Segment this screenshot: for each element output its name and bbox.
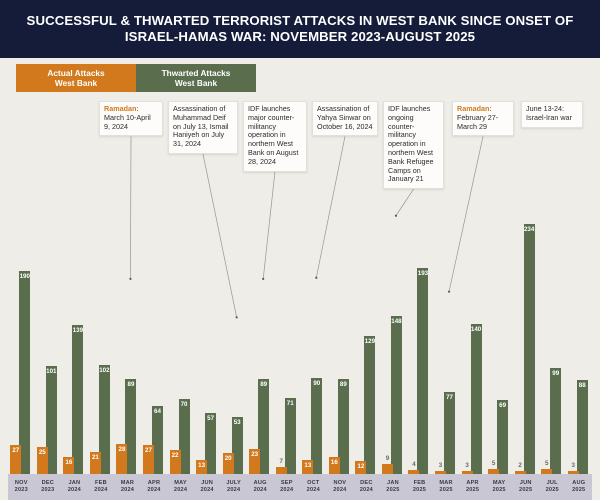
bar-actual: 7 bbox=[276, 467, 287, 474]
x-axis-tick-label: AUG2024 bbox=[247, 474, 274, 500]
bar-value-actual: 3 bbox=[439, 462, 442, 469]
bar-actual: 16 bbox=[329, 457, 340, 474]
bar-group: 8928 bbox=[114, 192, 141, 474]
annotation-highlight: Ramadan: bbox=[104, 104, 139, 113]
bar-actual: 22 bbox=[170, 450, 181, 474]
annotation-ramadan-2024: Ramadan: March 10-April 9, 2024 bbox=[99, 101, 163, 136]
x-axis-tick-label: JULY2024 bbox=[220, 474, 247, 500]
x-axis-tick-label: FEB2025 bbox=[406, 474, 433, 500]
bar-value-actual: 9 bbox=[386, 455, 389, 462]
bar-thwarted: 129 bbox=[364, 336, 375, 474]
bar-value-thwarted: 193 bbox=[418, 270, 428, 474]
bar-group: 12912 bbox=[353, 192, 380, 474]
x-axis-tick-label: JUN2025 bbox=[512, 474, 539, 500]
bar-group: 9013 bbox=[300, 192, 327, 474]
bar-value-actual: 16 bbox=[331, 459, 338, 474]
x-axis-labels: NOV2023DEC2023JAN2024FEB2024MAR2024APR20… bbox=[8, 474, 592, 500]
bar-actual: 21 bbox=[90, 452, 101, 474]
bar-actual: 9 bbox=[382, 464, 393, 474]
x-axis-tick-label: MAY2025 bbox=[486, 474, 513, 500]
bar-value-actual: 16 bbox=[65, 459, 72, 474]
bar-actual: 23 bbox=[249, 449, 260, 474]
legend-thwarted-line2: West Bank bbox=[175, 78, 217, 88]
chart-legend: Actual Attacks West Bank Thwarted Attack… bbox=[16, 64, 256, 92]
bar-actual: 13 bbox=[196, 460, 207, 474]
bar-value-thwarted: 190 bbox=[20, 273, 30, 474]
bar-value-thwarted: 148 bbox=[391, 318, 401, 474]
x-axis-tick-label: MAY2024 bbox=[167, 474, 194, 500]
bar-thwarted: 193 bbox=[417, 268, 428, 474]
bar-thwarted: 69 bbox=[497, 400, 508, 474]
bar-value-thwarted: 88 bbox=[579, 382, 586, 474]
bar-group: 5713 bbox=[194, 192, 221, 474]
bar-value-thwarted: 234 bbox=[524, 226, 534, 474]
bar-value-actual: 20 bbox=[225, 455, 232, 474]
bar-group: 995 bbox=[539, 192, 566, 474]
legend-thwarted-line1: Thwarted Attacks bbox=[162, 68, 231, 78]
bar-value-actual: 3 bbox=[572, 462, 575, 469]
bar-thwarted: 234 bbox=[524, 224, 535, 474]
annotation-israel-iran-war: June 13-24: Israel-Iran war bbox=[521, 101, 583, 128]
bar-group: 773 bbox=[433, 192, 460, 474]
bar-group: 5320 bbox=[220, 192, 247, 474]
annotation-idf-northern-aug-2024: IDF launches major counter-militancy ope… bbox=[243, 101, 307, 172]
annotation-highlight: Ramadan: bbox=[457, 104, 492, 113]
bar-group: 19027 bbox=[8, 192, 35, 474]
x-axis-tick-label: MAR2025 bbox=[433, 474, 460, 500]
bar-value-thwarted: 57 bbox=[207, 415, 214, 474]
bar-value-actual: 23 bbox=[251, 451, 258, 474]
bar-group: 6427 bbox=[141, 192, 168, 474]
bar-value-thwarted: 140 bbox=[471, 326, 481, 474]
bar-value-actual: 22 bbox=[172, 452, 179, 474]
bar-value-actual: 13 bbox=[304, 462, 311, 474]
bar-value-actual: 5 bbox=[492, 460, 495, 467]
annotation-text: Assassination of Muhammad Deif on July 1… bbox=[173, 104, 229, 148]
x-axis-tick-label: MAR2024 bbox=[114, 474, 141, 500]
bar-value-actual: 12 bbox=[357, 463, 364, 474]
bar-value-actual: 28 bbox=[119, 446, 126, 474]
bar-value-thwarted: 99 bbox=[552, 370, 559, 474]
bar-value-thwarted: 89 bbox=[340, 381, 347, 474]
annotation-text: Assassination of Yahya Sinwar on October… bbox=[317, 104, 373, 131]
bar-series-container: 1902710125139161022189286427702257135320… bbox=[8, 192, 592, 474]
legend-actual-line2: West Bank bbox=[55, 78, 97, 88]
bar-group: 717 bbox=[273, 192, 300, 474]
title-bar: SUCCESSFUL & THWARTED TERRORIST ATTACKS … bbox=[0, 0, 600, 58]
annotation-text: February 27-March 29 bbox=[457, 113, 498, 131]
bar-value-actual: 4 bbox=[412, 461, 415, 468]
bar-value-thwarted: 71 bbox=[287, 400, 294, 474]
annotation-ramadan-2025: Ramadan: February 27-March 29 bbox=[452, 101, 514, 136]
bar-group: 7022 bbox=[167, 192, 194, 474]
bar-value-thwarted: 129 bbox=[365, 338, 375, 474]
annotation-text: IDF launches major counter-militancy ope… bbox=[248, 104, 298, 166]
bar-group: 1934 bbox=[406, 192, 433, 474]
bar-value-actual: 21 bbox=[92, 454, 99, 474]
annotation-idf-refugee-camps-jan-2025: IDF launches ongoing counter-militancy o… bbox=[383, 101, 444, 189]
bar-thwarted: 99 bbox=[550, 368, 561, 474]
x-axis-tick-label: NOV2023 bbox=[8, 474, 35, 500]
bar-value-thwarted: 53 bbox=[234, 419, 241, 474]
bar-thwarted: 77 bbox=[444, 392, 455, 474]
bar-value-thwarted: 70 bbox=[181, 401, 188, 474]
bar-value-thwarted: 69 bbox=[499, 402, 506, 474]
bar-actual: 28 bbox=[116, 444, 127, 474]
x-axis-tick-label: JAN2025 bbox=[380, 474, 407, 500]
annotation-text: IDF launches ongoing counter-militancy o… bbox=[388, 104, 434, 183]
x-axis-tick-label: SEP2024 bbox=[273, 474, 300, 500]
bar-group: 10125 bbox=[35, 192, 62, 474]
x-axis-tick-label: JAN2024 bbox=[61, 474, 88, 500]
bar-group: 10221 bbox=[88, 192, 115, 474]
annotation-text: March 10-April 9, 2024 bbox=[104, 113, 151, 131]
bar-group: 2342 bbox=[512, 192, 539, 474]
bar-actual: 12 bbox=[355, 461, 366, 474]
bar-value-actual: 25 bbox=[39, 449, 46, 474]
annotation-deif-haniyeh: Assassination of Muhammad Deif on July 1… bbox=[168, 101, 238, 154]
bar-actual: 27 bbox=[10, 445, 21, 474]
legend-item-thwarted-attacks: Thwarted Attacks West Bank bbox=[136, 64, 256, 92]
bar-value-actual: 27 bbox=[12, 447, 19, 474]
bar-actual: 25 bbox=[37, 447, 48, 474]
x-axis-tick-label: OCT2024 bbox=[300, 474, 327, 500]
x-axis-tick-label: APR2025 bbox=[459, 474, 486, 500]
bar-value-actual: 3 bbox=[465, 462, 468, 469]
bar-value-actual: 13 bbox=[198, 462, 205, 474]
annotation-text: June 13-24: Israel-Iran war bbox=[526, 104, 572, 122]
bar-value-thwarted: 77 bbox=[446, 394, 453, 474]
bar-value-actual: 5 bbox=[545, 460, 548, 467]
bar-thwarted: 140 bbox=[471, 324, 482, 474]
infographic-root: SUCCESSFUL & THWARTED TERRORIST ATTACKS … bbox=[0, 0, 600, 415]
bar-actual: 16 bbox=[63, 457, 74, 474]
bar-thwarted: 139 bbox=[72, 325, 83, 474]
bar-thwarted: 88 bbox=[577, 380, 588, 474]
bar-value-thwarted: 89 bbox=[260, 381, 267, 474]
bar-group: 1403 bbox=[459, 192, 486, 474]
x-axis-tick-label: AUG2025 bbox=[565, 474, 592, 500]
x-axis-tick-label: JUN2024 bbox=[194, 474, 221, 500]
bar-value-thwarted: 89 bbox=[128, 381, 135, 474]
x-axis-tick-label: FEB2024 bbox=[88, 474, 115, 500]
legend-item-actual-attacks: Actual Attacks West Bank bbox=[16, 64, 136, 92]
x-axis-tick-label: DEC2024 bbox=[353, 474, 380, 500]
bar-value-actual: 2 bbox=[518, 462, 521, 469]
bar-value-thwarted: 64 bbox=[154, 408, 161, 474]
bar-value-thwarted: 139 bbox=[73, 327, 83, 474]
x-axis-tick-label: NOV2024 bbox=[327, 474, 354, 500]
x-axis-tick-label: DEC2023 bbox=[35, 474, 62, 500]
bar-group: 883 bbox=[565, 192, 592, 474]
bar-thwarted: 148 bbox=[391, 316, 402, 474]
bar-thwarted: 190 bbox=[19, 271, 30, 474]
bar-actual: 27 bbox=[143, 445, 154, 474]
page-title: SUCCESSFUL & THWARTED TERRORIST ATTACKS … bbox=[20, 13, 580, 45]
bar-group: 695 bbox=[486, 192, 513, 474]
annotation-sinwar: Assassination of Yahya Sinwar on October… bbox=[312, 101, 378, 136]
legend-actual-line1: Actual Attacks bbox=[47, 68, 104, 78]
bar-actual: 13 bbox=[302, 460, 313, 474]
x-axis-tick-label: APR2024 bbox=[141, 474, 168, 500]
bar-value-thwarted: 90 bbox=[313, 380, 320, 474]
bar-group: 8923 bbox=[247, 192, 274, 474]
bar-group: 8916 bbox=[327, 192, 354, 474]
bar-actual: 20 bbox=[223, 453, 234, 474]
bar-value-actual: 7 bbox=[280, 458, 283, 465]
bar-value-actual: 27 bbox=[145, 447, 152, 474]
bar-group: 1489 bbox=[380, 192, 407, 474]
bar-group: 13916 bbox=[61, 192, 88, 474]
x-axis-tick-label: JUL2025 bbox=[539, 474, 566, 500]
bar-thwarted: 71 bbox=[285, 398, 296, 474]
